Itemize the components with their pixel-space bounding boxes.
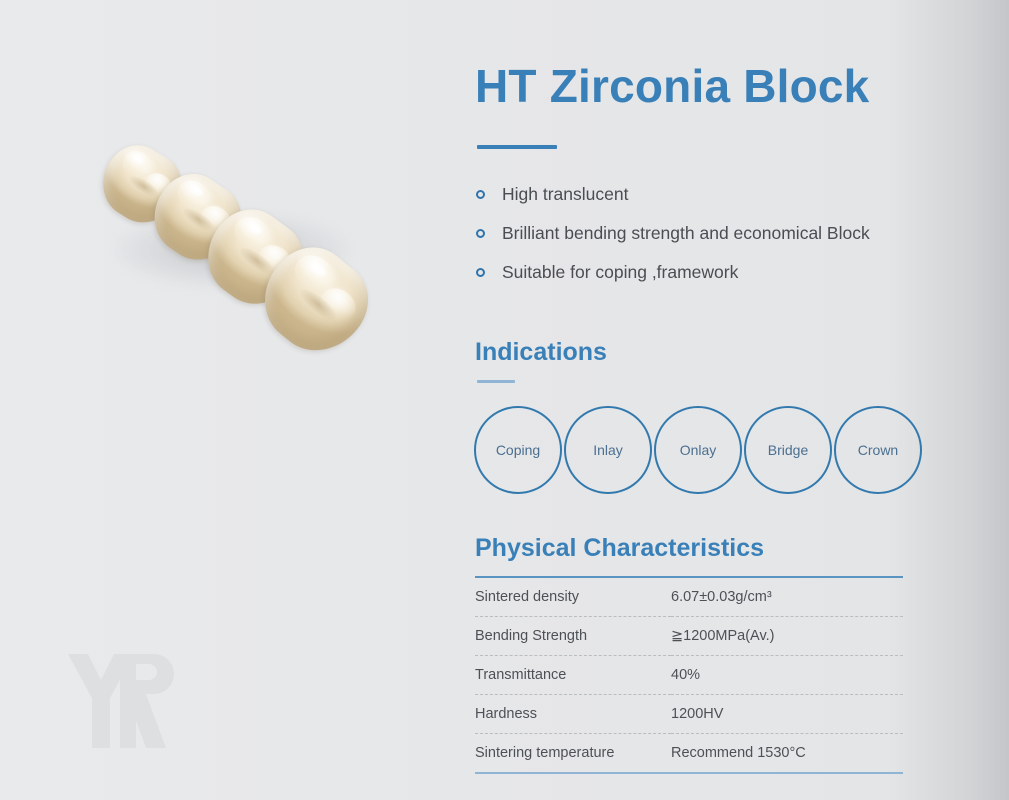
table-row: Transmittance 40% [475, 656, 903, 695]
indications-circle-row: Coping Inlay Onlay Bridge Crown [474, 405, 922, 495]
table-row: Bending Strength ≧1200MPa(Av.) [475, 617, 903, 656]
product-content-panel: HT Zirconia Block High translucent Brill… [475, 0, 921, 800]
product-image-panel [0, 0, 455, 800]
feature-text: High translucent [502, 184, 628, 204]
bridge-units-group [0, 22, 451, 468]
spec-label: Transmittance [475, 656, 671, 695]
ring-bullet-icon [476, 268, 485, 277]
indication-label: Inlay [593, 442, 623, 458]
spec-value: 6.07±0.03g/cm³ [671, 577, 903, 617]
spec-label: Hardness [475, 695, 671, 734]
indication-circle-coping[interactable]: Coping [474, 406, 562, 494]
list-item: Brilliant bending strength and economica… [475, 221, 875, 246]
spec-value: 1200HV [671, 695, 903, 734]
spec-value: Recommend 1530°C [671, 734, 903, 774]
indication-label: Crown [858, 442, 898, 458]
physical-characteristics-heading: Physical Characteristics [475, 532, 764, 564]
ring-bullet-icon [476, 229, 485, 238]
list-item: Suitable for coping ,framework [475, 260, 875, 285]
indication-label: Coping [496, 442, 540, 458]
indication-label: Bridge [768, 442, 808, 458]
zirconia-bridge-image [55, 95, 395, 395]
indication-circle-inlay[interactable]: Inlay [564, 406, 652, 494]
feature-text: Suitable for coping ,framework [502, 262, 738, 282]
indications-underline [477, 380, 515, 383]
table-row: Hardness 1200HV [475, 695, 903, 734]
ring-bullet-icon [476, 190, 485, 199]
title-underline [477, 145, 557, 149]
indication-circle-bridge[interactable]: Bridge [744, 406, 832, 494]
table-row: Sintered density 6.07±0.03g/cm³ [475, 577, 903, 617]
feature-text: Brilliant bending strength and economica… [502, 223, 870, 243]
spec-value: 40% [671, 656, 903, 695]
spec-label: Bending Strength [475, 617, 671, 656]
spec-label: Sintering temperature [475, 734, 671, 774]
spec-label: Sintered density [475, 577, 671, 617]
product-spec-page: HT Zirconia Block High translucent Brill… [0, 0, 1009, 800]
indications-heading: Indications [475, 336, 607, 368]
spec-value: ≧1200MPa(Av.) [671, 617, 903, 656]
indication-circle-crown[interactable]: Crown [834, 406, 922, 494]
physical-characteristics-table: Sintered density 6.07±0.03g/cm³ Bending … [475, 576, 903, 774]
indication-circle-onlay[interactable]: Onlay [654, 406, 742, 494]
table-row: Sintering temperature Recommend 1530°C [475, 734, 903, 774]
indication-label: Onlay [680, 442, 717, 458]
feature-list: High translucent Brilliant bending stren… [475, 182, 875, 285]
list-item: High translucent [475, 182, 875, 207]
yr-watermark-logo [62, 648, 174, 754]
page-title: HT Zirconia Block [475, 58, 869, 114]
